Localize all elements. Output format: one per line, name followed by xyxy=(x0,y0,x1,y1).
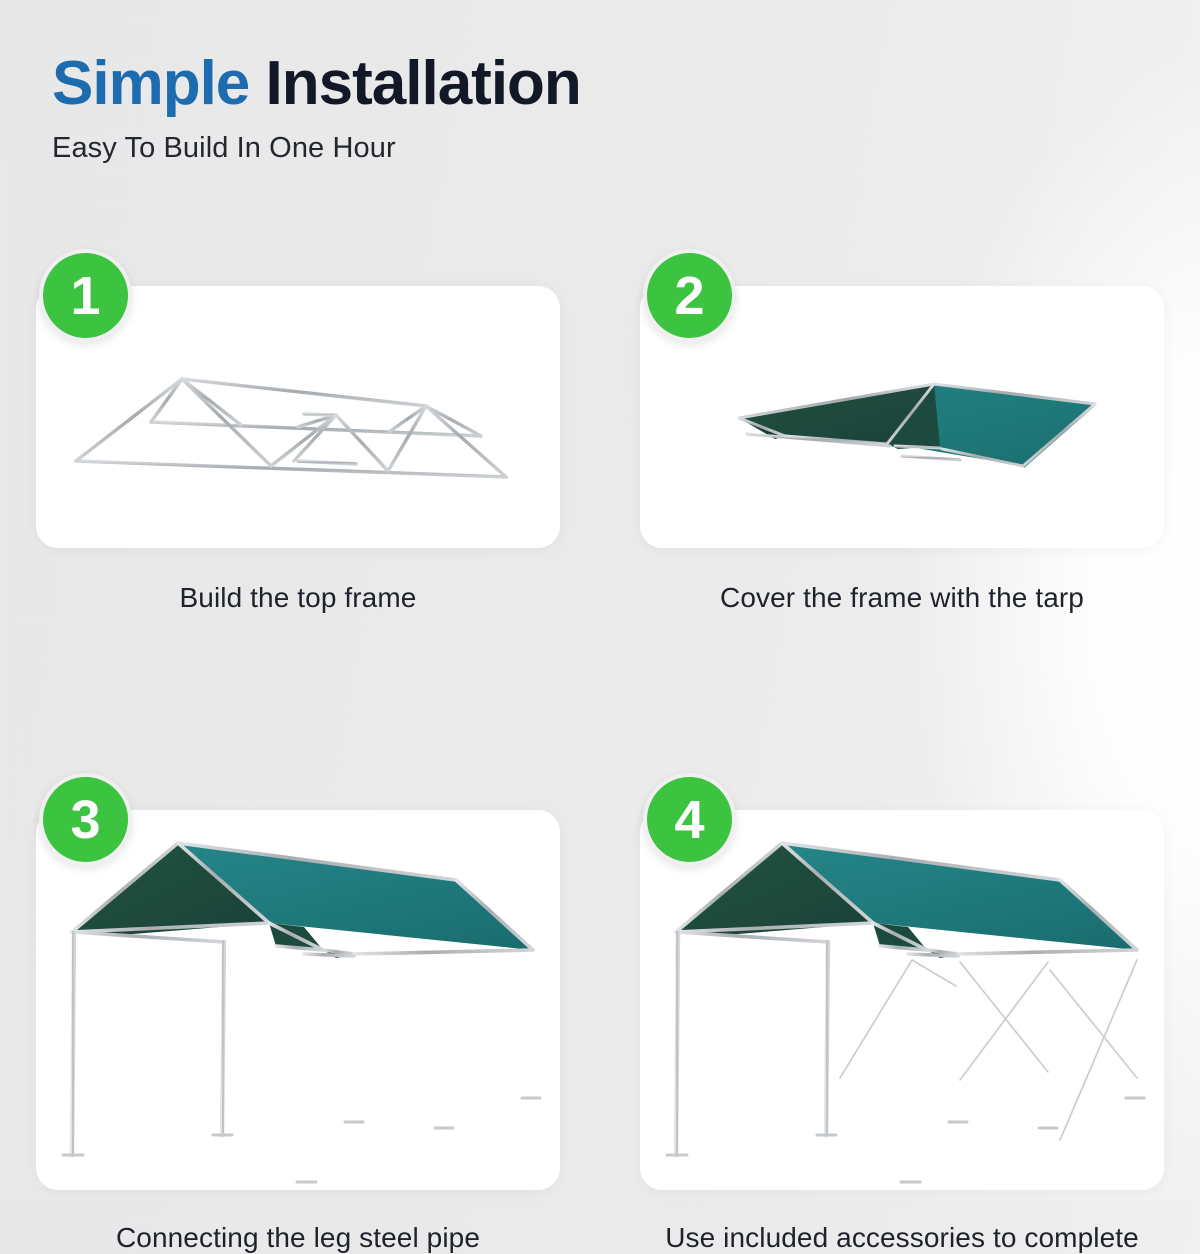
step-2-badge: 2 xyxy=(643,249,736,342)
step-2-caption: Cover the frame with the tarp xyxy=(640,582,1164,614)
steps-grid: 1 Build the top frame xyxy=(0,286,1200,1210)
steps-row-2: 3 Connecting the leg steel pipe xyxy=(0,810,1200,1210)
step-card-2: 2 Cover the frame with the tarp xyxy=(640,286,1164,686)
step-4-illustration xyxy=(640,810,1164,1190)
step-3-number: 3 xyxy=(70,793,100,847)
step-4-caption: Use included accessories to complete xyxy=(640,1222,1164,1254)
step-3-caption: Connecting the leg steel pipe xyxy=(36,1222,560,1254)
step-card-4: 4 Use included accessories to complete xyxy=(640,810,1164,1210)
steps-row-1: 1 Build the top frame xyxy=(0,286,1200,686)
step-2-number: 2 xyxy=(674,269,704,323)
brace-wires xyxy=(840,960,1137,1140)
step-1-badge: 1 xyxy=(39,249,132,342)
page-title: Simple Installation xyxy=(52,52,1052,115)
step-4-card-surface xyxy=(640,810,1164,1190)
step-1-caption: Build the top frame xyxy=(36,582,560,614)
page-title-rest: Installation xyxy=(266,49,581,118)
step-1-number: 1 xyxy=(70,269,100,323)
step-3-illustration xyxy=(36,810,560,1190)
page-header: Simple Installation Easy To Build In One… xyxy=(52,52,1052,165)
step-card-3: 3 Connecting the leg steel pipe xyxy=(36,810,560,1210)
step-4-number: 4 xyxy=(674,793,704,847)
step-4-badge: 4 xyxy=(643,773,736,866)
page-subtitle: Easy To Build In One Hour xyxy=(52,132,1052,165)
step-card-1: 1 Build the top frame xyxy=(36,286,560,686)
step-3-badge: 3 xyxy=(39,773,132,866)
page-title-accent: Simple xyxy=(52,49,249,118)
step-3-card-surface xyxy=(36,810,560,1190)
